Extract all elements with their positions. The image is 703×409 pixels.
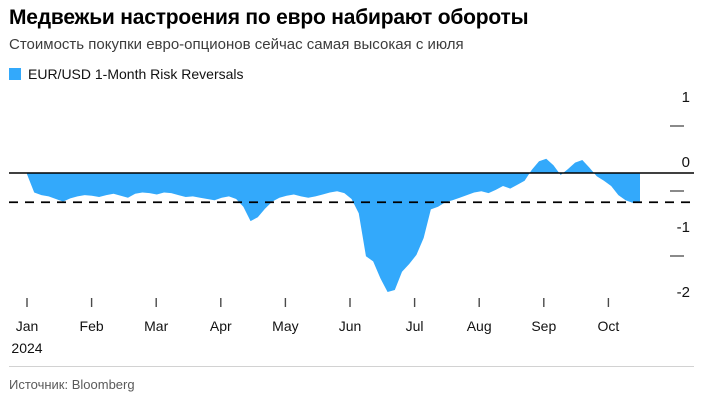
y-axis-label-1: 1: [664, 89, 690, 106]
plot-area: [0, 88, 703, 313]
x-axis-label-jan: Jan: [0, 318, 55, 334]
x-axis-label-apr: Apr: [193, 318, 249, 334]
y-axis-label-neg2: -2: [664, 284, 690, 301]
chart-container: Медвежьи настроения по евро набирают обо…: [0, 0, 703, 409]
x-axis-label-aug: Aug: [451, 318, 507, 334]
x-axis-label-may: May: [257, 318, 313, 334]
x-axis-label-jun: Jun: [322, 318, 378, 334]
x-axis-label-mar: Mar: [128, 318, 184, 334]
chart-subtitle: Стоимость покупки евро-опционов сейчас с…: [9, 36, 464, 53]
x-axis-label-oct: Oct: [580, 318, 636, 334]
legend-color-swatch: [9, 68, 21, 80]
x-axis-label-jul: Jul: [387, 318, 443, 334]
chart-legend: EUR/USD 1-Month Risk Reversals: [9, 66, 244, 82]
source-credit: Источник: Bloomberg: [9, 377, 135, 392]
legend-item-label: EUR/USD 1-Month Risk Reversals: [28, 66, 244, 82]
x-axis-year-label: 2024: [0, 340, 55, 356]
page-title: Медвежьи настроения по евро набирают обо…: [9, 6, 528, 30]
x-axis-ticks: [27, 298, 608, 307]
y-axis-label-0: 0: [664, 154, 690, 171]
x-axis-label-feb: Feb: [64, 318, 120, 334]
y-axis-label-neg1: -1: [664, 219, 690, 236]
footer-divider: [9, 366, 694, 367]
area-chart-svg: [0, 88, 703, 313]
x-axis-label-sep: Sep: [516, 318, 572, 334]
series-area-eurusd-risk-reversals: [27, 159, 640, 292]
